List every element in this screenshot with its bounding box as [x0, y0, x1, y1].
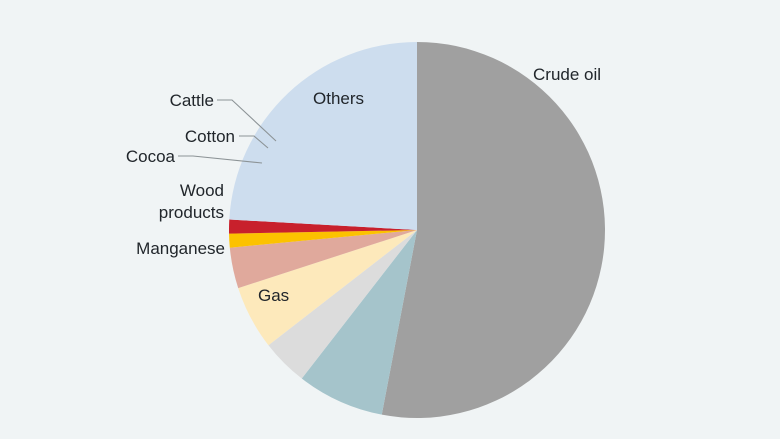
pie-chart-svg: Crude oil Others Gas Manganese Wood prod… — [0, 0, 780, 439]
pie-label-others: Others — [313, 89, 364, 108]
pie-label-wood-products-line2: products — [159, 203, 224, 222]
pie-label-gas: Gas — [258, 286, 289, 305]
pie-label-cotton: Cotton — [185, 127, 235, 146]
pie-label-cocoa: Cocoa — [126, 147, 176, 166]
pie-label-cattle: Cattle — [170, 91, 214, 110]
pie-label-crude-oil: Crude oil — [533, 65, 601, 84]
pie-label-manganese: Manganese — [136, 239, 225, 258]
pie-label-wood-products-line1: Wood — [180, 181, 224, 200]
pie-chart-container: Crude oil Others Gas Manganese Wood prod… — [0, 0, 780, 439]
pie-slices — [229, 42, 605, 418]
